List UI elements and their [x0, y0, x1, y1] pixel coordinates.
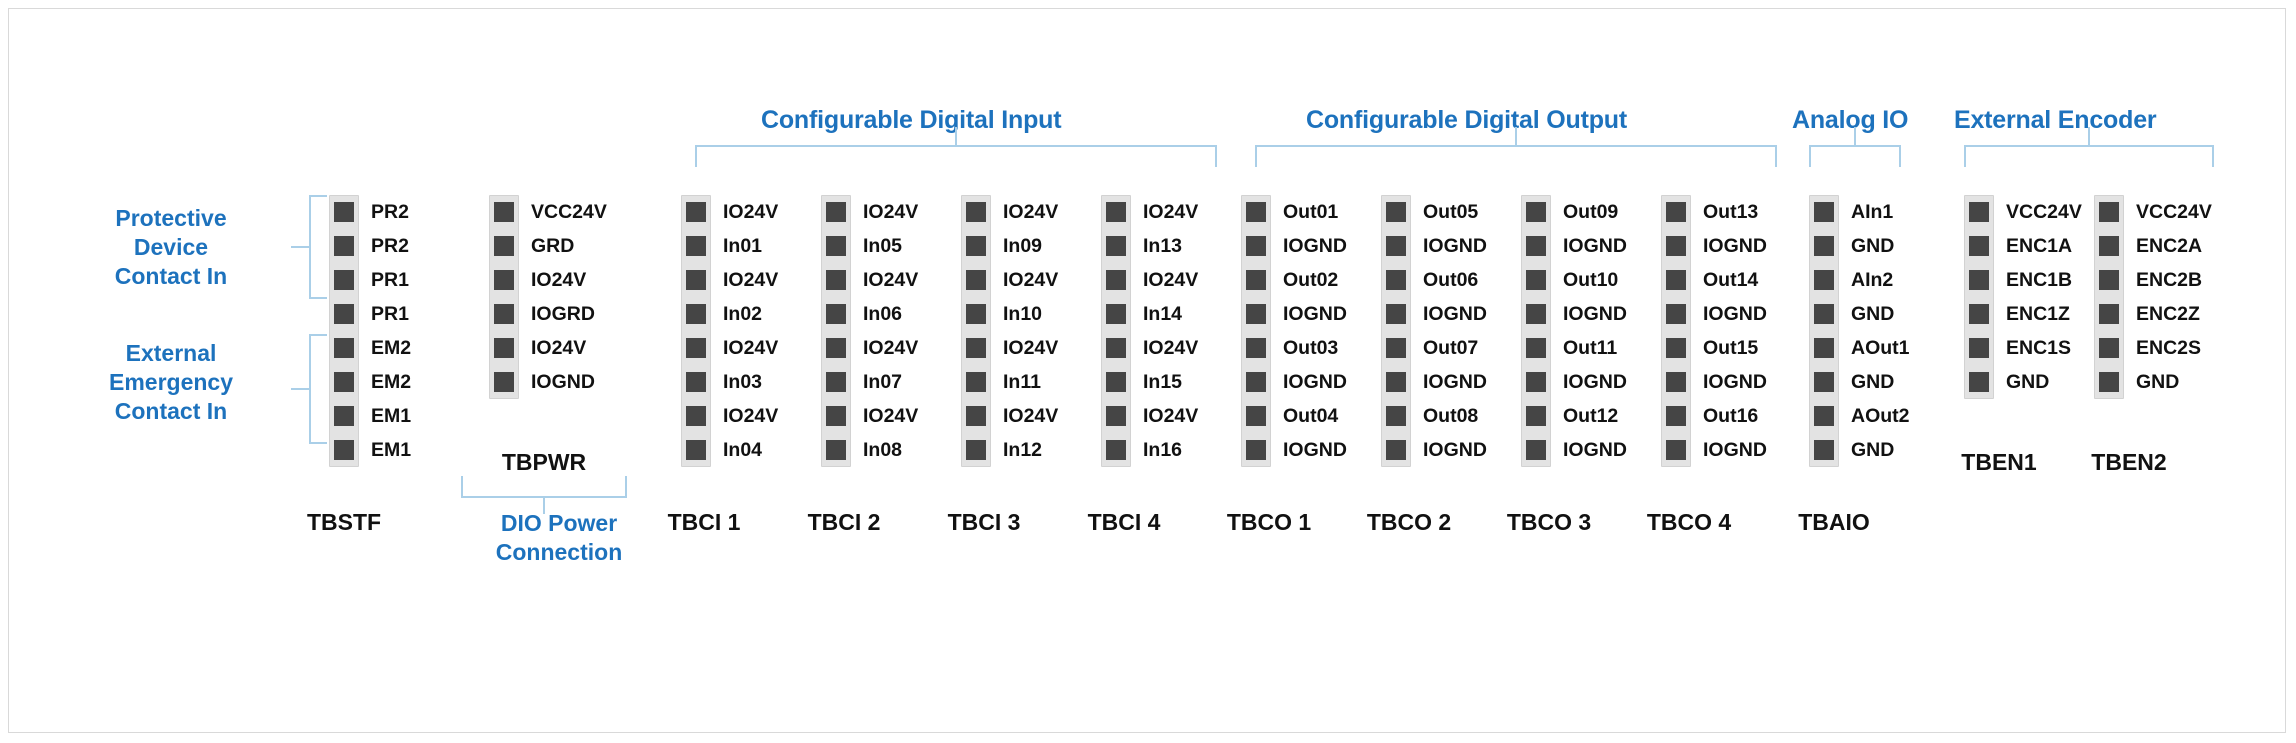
pin-terminal[interactable] [686, 406, 706, 426]
pin-terminal[interactable] [334, 270, 354, 290]
pin-label: PR1 [371, 304, 409, 324]
group-header-external-encoder: External Encoder [1954, 106, 2156, 135]
pin-terminal[interactable] [1526, 270, 1546, 290]
pin-terminal[interactable] [1526, 406, 1546, 426]
pin-label: ENC2A [2136, 236, 2202, 256]
pin-label: IO24V [723, 202, 778, 222]
pin-terminal[interactable] [2099, 202, 2119, 222]
pin-label: IO24V [1143, 406, 1198, 426]
pin-label: In15 [1143, 372, 1182, 392]
pin-terminal[interactable] [494, 270, 514, 290]
pin-label: Out09 [1563, 202, 1618, 222]
pin-label: IOGND [1283, 440, 1347, 460]
pin-terminal[interactable] [966, 236, 986, 256]
connector-name-tbco3: TBCO 3 [1474, 509, 1624, 536]
pin-label: GND [1851, 304, 1894, 324]
pin-terminal[interactable] [334, 304, 354, 324]
pin-terminal[interactable] [1814, 202, 1834, 222]
connector-name-tbpwr: TBPWR [474, 449, 614, 476]
pin-label: PR1 [371, 270, 409, 290]
pin-label: GND [1851, 372, 1894, 392]
pin-terminal[interactable] [1106, 270, 1126, 290]
pin-label: IO24V [863, 338, 918, 358]
pin-label: IO24V [1143, 270, 1198, 290]
pin-label: ENC1S [2006, 338, 2071, 358]
pin-label: IOGND [1423, 372, 1487, 392]
connector-name-tbco4: TBCO 4 [1614, 509, 1764, 536]
pin-label: Out07 [1423, 338, 1478, 358]
pin-terminal[interactable] [494, 304, 514, 324]
pin-label: Out11 [1563, 338, 1617, 358]
pin-terminal[interactable] [494, 372, 514, 392]
pin-label: GND [2006, 372, 2049, 392]
pin-label: PR2 [371, 236, 409, 256]
pin-terminal[interactable] [1666, 270, 1686, 290]
pin-terminal[interactable] [1106, 202, 1126, 222]
side-label-protective-device-contact-in: Protective Device Contact In [81, 204, 261, 291]
connector-name-tbci3: TBCI 3 [914, 509, 1054, 536]
pin-label: GRD [531, 236, 574, 256]
pin-label: In16 [1143, 440, 1182, 460]
pin-label: IOGND [1703, 236, 1767, 256]
pin-label: Out15 [1703, 338, 1758, 358]
pin-terminal[interactable] [334, 440, 354, 460]
pin-terminal[interactable] [1106, 236, 1126, 256]
pin-terminal[interactable] [686, 270, 706, 290]
pin-terminal[interactable] [826, 406, 846, 426]
pin-label: AOut1 [1851, 338, 1910, 358]
pin-terminal[interactable] [2099, 236, 2119, 256]
pin-label: IO24V [1143, 338, 1198, 358]
pin-terminal[interactable] [1246, 338, 1266, 358]
pin-label: Out10 [1563, 270, 1618, 290]
pin-terminal[interactable] [1526, 338, 1546, 358]
pin-terminal[interactable] [1666, 338, 1686, 358]
pin-label: Out05 [1423, 202, 1478, 222]
pin-label: EM2 [371, 372, 411, 392]
pin-terminal[interactable] [2099, 304, 2119, 324]
pin-label: In06 [863, 304, 902, 324]
pin-terminal[interactable] [494, 236, 514, 256]
pin-terminal[interactable] [686, 440, 706, 460]
pin-terminal[interactable] [826, 270, 846, 290]
pin-label: In04 [723, 440, 762, 460]
connector-strip [2094, 195, 2124, 399]
pin-terminal[interactable] [1666, 372, 1686, 392]
pin-label: IOGND [1283, 372, 1347, 392]
connector-name-tbci4: TBCI 4 [1054, 509, 1194, 536]
pin-label: VCC24V [531, 202, 607, 222]
pin-label: Out01 [1283, 202, 1338, 222]
connector-name-tbaio: TBAIO [1764, 509, 1904, 536]
pin-terminal[interactable] [1106, 440, 1126, 460]
pin-label: IOGND [1423, 440, 1487, 460]
pin-terminal[interactable] [1969, 202, 1989, 222]
pin-terminal[interactable] [686, 372, 706, 392]
pin-label: Out02 [1283, 270, 1338, 290]
pin-terminal[interactable] [826, 202, 846, 222]
pin-terminal[interactable] [966, 338, 986, 358]
pin-label: In02 [723, 304, 762, 324]
sub-label-dio-power-connection: DIO Power Connection [469, 509, 649, 567]
pin-terminal[interactable] [686, 236, 706, 256]
connector-strip [1964, 195, 1994, 399]
group-header-analog-io: Analog IO [1792, 106, 1908, 135]
pin-label: In05 [863, 236, 902, 256]
pin-terminal[interactable] [686, 304, 706, 324]
pin-terminal[interactable] [334, 406, 354, 426]
pin-label: In08 [863, 440, 902, 460]
pin-label: In10 [1003, 304, 1042, 324]
pin-terminal[interactable] [826, 372, 846, 392]
pin-label: IO24V [723, 406, 778, 426]
pin-label: IO24V [1003, 338, 1058, 358]
side-label-external-emergency-contact-in: External Emergency Contact In [81, 339, 261, 426]
pin-terminal[interactable] [1386, 202, 1406, 222]
pin-terminal[interactable] [1666, 440, 1686, 460]
pin-label: EM2 [371, 338, 411, 358]
pin-label: IO24V [1003, 406, 1058, 426]
pin-terminal[interactable] [1814, 270, 1834, 290]
pin-label: ENC2S [2136, 338, 2201, 358]
pin-terminal[interactable] [1526, 304, 1546, 324]
pin-label: IOGND [1423, 236, 1487, 256]
pin-label: VCC24V [2006, 202, 2082, 222]
pin-terminal[interactable] [334, 202, 354, 222]
pin-terminal[interactable] [1814, 304, 1834, 324]
connector-name-tbci2: TBCI 2 [774, 509, 914, 536]
pin-label: Out03 [1283, 338, 1338, 358]
pin-terminal[interactable] [1814, 440, 1834, 460]
pin-terminal[interactable] [1969, 372, 1989, 392]
pin-terminal[interactable] [334, 338, 354, 358]
pin-label: Out14 [1703, 270, 1758, 290]
pin-label: IO24V [723, 270, 778, 290]
pin-label: In13 [1143, 236, 1182, 256]
pin-terminal[interactable] [1106, 338, 1126, 358]
pin-terminal[interactable] [334, 236, 354, 256]
pin-label: ENC2Z [2136, 304, 2200, 324]
pin-terminal[interactable] [1386, 440, 1406, 460]
pin-terminal[interactable] [1246, 236, 1266, 256]
pin-label: AOut2 [1851, 406, 1910, 426]
pin-terminal[interactable] [826, 236, 846, 256]
pin-label: In11 [1003, 372, 1041, 392]
pin-label: ENC1Z [2006, 304, 2070, 324]
pin-label: Out13 [1703, 202, 1758, 222]
pin-label: Out06 [1423, 270, 1478, 290]
pin-terminal[interactable] [1666, 406, 1686, 426]
pin-label: In01 [723, 236, 762, 256]
pin-terminal[interactable] [1969, 304, 1989, 324]
pin-label: IOGND [1423, 304, 1487, 324]
pin-label: Out12 [1563, 406, 1618, 426]
pin-terminal[interactable] [334, 372, 354, 392]
pin-terminal[interactable] [1526, 372, 1546, 392]
pin-label: PR2 [371, 202, 409, 222]
connector-name-tbci1: TBCI 1 [634, 509, 774, 536]
pin-terminal[interactable] [1526, 202, 1546, 222]
pin-label: In12 [1003, 440, 1042, 460]
pin-terminal[interactable] [1246, 202, 1266, 222]
pin-terminal[interactable] [1106, 406, 1126, 426]
pin-label: IO24V [1003, 270, 1058, 290]
pin-terminal[interactable] [1106, 372, 1126, 392]
pin-label: IO24V [723, 338, 778, 358]
pin-label: IO24V [531, 270, 586, 290]
pin-label: IOGND [1563, 440, 1627, 460]
pin-terminal[interactable] [1666, 304, 1686, 324]
pin-label: EM1 [371, 406, 411, 426]
pin-label: IOGND [1563, 236, 1627, 256]
pin-label: AIn1 [1851, 202, 1893, 222]
pin-terminal[interactable] [1969, 236, 1989, 256]
pin-label: In03 [723, 372, 762, 392]
connector-strip [489, 195, 519, 399]
group-header-configurable-digital-output: Configurable Digital Output [1306, 106, 1627, 135]
connector-name-tbco1: TBCO 1 [1194, 509, 1344, 536]
pin-terminal[interactable] [826, 338, 846, 358]
pin-label: IOGND [1283, 304, 1347, 324]
pin-terminal[interactable] [1386, 304, 1406, 324]
pin-label: IOGND [531, 372, 595, 392]
pin-terminal[interactable] [1969, 270, 1989, 290]
pin-terminal[interactable] [1386, 338, 1406, 358]
pin-label: IO24V [1143, 202, 1198, 222]
connector-name-tben2: TBEN2 [2059, 449, 2199, 476]
pin-label: IO24V [863, 270, 918, 290]
pin-label: GND [1851, 236, 1894, 256]
pin-terminal[interactable] [686, 338, 706, 358]
pin-label: IOGND [1703, 372, 1767, 392]
pin-label: IOGND [1563, 372, 1627, 392]
pin-terminal[interactable] [826, 440, 846, 460]
pin-label: Out04 [1283, 406, 1338, 426]
group-header-configurable-digital-input: Configurable Digital Input [761, 106, 1061, 135]
pin-terminal[interactable] [1246, 406, 1266, 426]
pin-label: IO24V [1003, 202, 1058, 222]
pin-terminal[interactable] [1814, 372, 1834, 392]
pin-terminal[interactable] [966, 372, 986, 392]
connector-name-tbstf: TBSTF [274, 509, 414, 536]
pin-terminal[interactable] [494, 338, 514, 358]
pin-terminal[interactable] [686, 202, 706, 222]
pin-label: In09 [1003, 236, 1042, 256]
pin-label: AIn2 [1851, 270, 1893, 290]
pin-terminal[interactable] [1386, 406, 1406, 426]
pin-terminal[interactable] [1814, 406, 1834, 426]
pin-label: EM1 [371, 440, 411, 460]
pin-label: ENC2B [2136, 270, 2202, 290]
pin-terminal[interactable] [1666, 236, 1686, 256]
pin-terminal[interactable] [966, 440, 986, 460]
pin-terminal[interactable] [1246, 304, 1266, 324]
pin-label: GND [2136, 372, 2179, 392]
pin-label: ENC1B [2006, 270, 2072, 290]
pin-terminal[interactable] [2099, 372, 2119, 392]
pin-terminal[interactable] [1246, 440, 1266, 460]
pin-terminal[interactable] [1246, 270, 1266, 290]
pin-terminal[interactable] [966, 270, 986, 290]
pin-terminal[interactable] [966, 304, 986, 324]
pin-label: IOGND [1283, 236, 1347, 256]
pin-terminal[interactable] [966, 406, 986, 426]
pin-terminal[interactable] [1969, 338, 1989, 358]
pin-terminal[interactable] [1386, 372, 1406, 392]
pin-terminal[interactable] [1814, 338, 1834, 358]
pin-label: IO24V [863, 406, 918, 426]
pin-label: IO24V [863, 202, 918, 222]
pin-terminal[interactable] [494, 202, 514, 222]
pin-label: In14 [1143, 304, 1182, 324]
connector-name-tben1: TBEN1 [1929, 449, 2069, 476]
pin-label: IOGRD [531, 304, 595, 324]
diagram-frame: Configurable Digital Input Configurable … [8, 8, 2286, 733]
pin-terminal[interactable] [826, 304, 846, 324]
pin-label: Out08 [1423, 406, 1478, 426]
pin-label: GND [1851, 440, 1894, 460]
pin-terminal[interactable] [1666, 202, 1686, 222]
pin-label: IOGND [1703, 440, 1767, 460]
pin-label: Out16 [1703, 406, 1758, 426]
pin-label: IOGND [1563, 304, 1627, 324]
pin-terminal[interactable] [1386, 236, 1406, 256]
pin-terminal[interactable] [1526, 236, 1546, 256]
pin-terminal[interactable] [966, 202, 986, 222]
connector-name-tbco2: TBCO 2 [1334, 509, 1484, 536]
pin-terminal[interactable] [1814, 236, 1834, 256]
pin-terminal[interactable] [1246, 372, 1266, 392]
pin-terminal[interactable] [2099, 338, 2119, 358]
pin-terminal[interactable] [2099, 270, 2119, 290]
pin-label: In07 [863, 372, 902, 392]
pin-label: VCC24V [2136, 202, 2212, 222]
pin-label: ENC1A [2006, 236, 2072, 256]
pin-terminal[interactable] [1106, 304, 1126, 324]
pin-terminal[interactable] [1386, 270, 1406, 290]
pin-label: IOGND [1703, 304, 1767, 324]
pin-label: IO24V [531, 338, 586, 358]
pin-terminal[interactable] [1526, 440, 1546, 460]
